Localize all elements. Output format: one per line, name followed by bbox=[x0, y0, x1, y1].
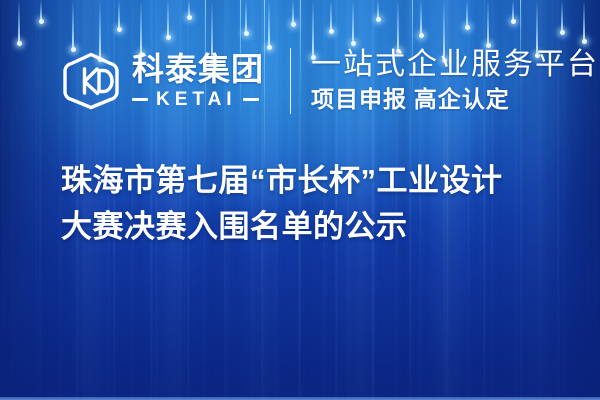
meteor-streak bbox=[292, 0, 294, 25]
tagline-secondary: 项目申报 高企认定 bbox=[311, 87, 599, 113]
banner-title-line-2: 大赛决赛入围名单的公示 bbox=[61, 204, 581, 250]
meteor-streak bbox=[420, 0, 422, 36]
header-divider bbox=[290, 48, 291, 114]
meteor-streak bbox=[466, 0, 468, 28]
tagline-block: 一站式企业服务平台 项目申报 高企认定 bbox=[311, 48, 599, 113]
tagline-primary: 一站式企业服务平台 bbox=[311, 48, 599, 82]
banner-title: 珠海市第七届“市长杯”工业设计 大赛决赛入围名单的公示 bbox=[61, 158, 581, 250]
meteor-streak bbox=[18, 0, 20, 44]
meteor-streak bbox=[330, 0, 332, 32]
meteor-streak bbox=[245, 0, 247, 34]
meteor-streak bbox=[268, 0, 270, 48]
meteor-streak bbox=[561, 0, 563, 33]
company-name-en: KETAI bbox=[156, 90, 237, 109]
logo-wordmark: 科泰集团 KETAI bbox=[132, 53, 264, 110]
meteor-streak bbox=[377, 0, 379, 20]
meteor-streak bbox=[583, 0, 585, 42]
meteor-streak bbox=[118, 0, 120, 30]
promo-banner: 科泰集团 KETAI 一站式企业服务平台 项目申报 高企认定 珠海市第七届“市长… bbox=[0, 0, 600, 400]
meteor-streak bbox=[352, 0, 354, 44]
meteor-streak bbox=[512, 0, 514, 22]
ketai-logo-icon bbox=[60, 50, 122, 112]
meteor-streak bbox=[188, 0, 190, 18]
meteor-streak bbox=[487, 0, 489, 46]
company-name-en-row: KETAI bbox=[132, 90, 264, 109]
dash-right-icon bbox=[243, 98, 259, 101]
dash-left-icon bbox=[132, 98, 148, 101]
banner-header: 科泰集团 KETAI 一站式企业服务平台 项目申报 高企认定 bbox=[60, 44, 599, 118]
company-name-cn: 科泰集团 bbox=[132, 53, 264, 87]
meteor-streak bbox=[167, 0, 169, 38]
meteor-streak bbox=[72, 0, 74, 50]
meteor-streak bbox=[40, 0, 42, 22]
banner-title-line-1: 珠海市第七届“市长杯”工业设计 bbox=[61, 158, 581, 204]
